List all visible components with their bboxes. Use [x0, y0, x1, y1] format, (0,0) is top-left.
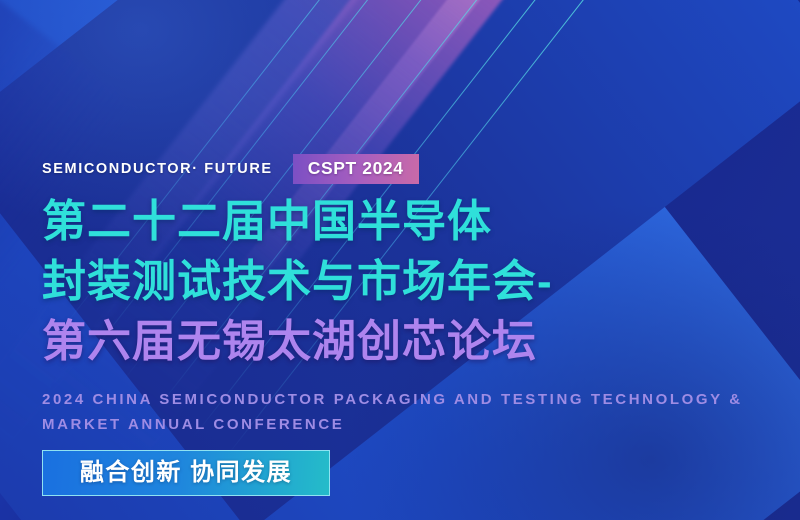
banner-content: SEMICONDUCTOR· FUTURE CSPT 2024 第二十二届中国半…: [42, 0, 772, 520]
kicker-text: SEMICONDUCTOR· FUTURE: [42, 161, 273, 177]
slogan-button[interactable]: 融合创新 协同发展: [42, 450, 330, 496]
headline-line-2: 封装测试技术与市场年会-: [42, 252, 772, 312]
headline-line-3: 第六届无锡太湖创芯论坛: [42, 312, 772, 372]
page-title: 第二十二届中国半导体 封装测试技术与市场年会- 第六届无锡太湖创芯论坛: [42, 192, 772, 372]
event-banner: SEMICONDUCTOR· FUTURE CSPT 2024 第二十二届中国半…: [0, 0, 800, 520]
english-subtitle: 2024 CHINA SEMICONDUCTOR PACKAGING AND T…: [42, 387, 762, 437]
kicker-row: SEMICONDUCTOR· FUTURE CSPT 2024: [42, 153, 419, 185]
headline-line-1: 第二十二届中国半导体: [42, 192, 772, 252]
event-code-badge: CSPT 2024: [293, 154, 419, 185]
slogan-button-label: 融合创新 协同发展: [80, 461, 292, 485]
diagonal-wedge-left-blue: [0, 0, 40, 520]
